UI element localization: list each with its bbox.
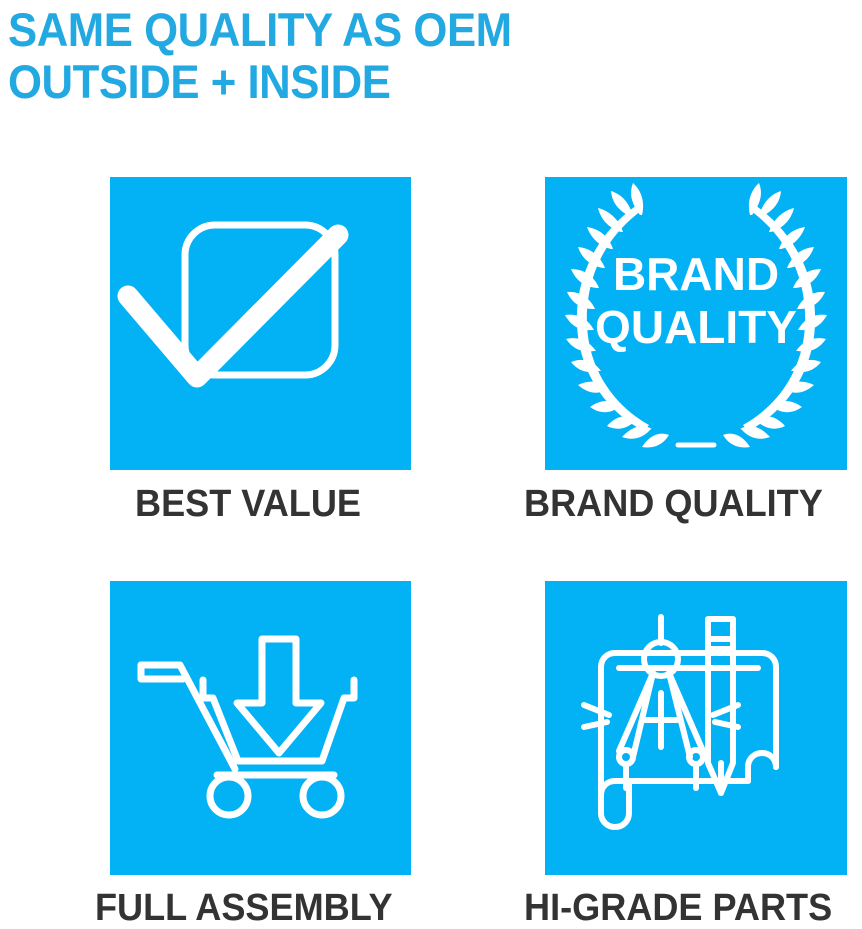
wreath-badge-line-1: BRAND <box>613 248 779 300</box>
feature-label: FULL ASSEMBLY <box>95 886 393 929</box>
shopping-cart-download-icon <box>110 581 411 875</box>
feature-label: BEST VALUE <box>135 482 361 526</box>
blueprint-compass-pencil-icon <box>545 581 847 875</box>
checkbox-check-icon <box>110 177 411 470</box>
laurel-wreath-icon: BRAND QUALITY <box>545 177 847 470</box>
wreath-badge-line-2: QUALITY <box>595 301 797 353</box>
feature-label: HI-GRADE PARTS <box>524 886 832 929</box>
feature-label: BRAND QUALITY <box>524 482 823 526</box>
promo-graphic: SAME QUALITY AS OEM OUTSIDE + INSIDE BES… <box>0 0 862 929</box>
feature-grid: BEST VALUE <box>0 0 862 929</box>
